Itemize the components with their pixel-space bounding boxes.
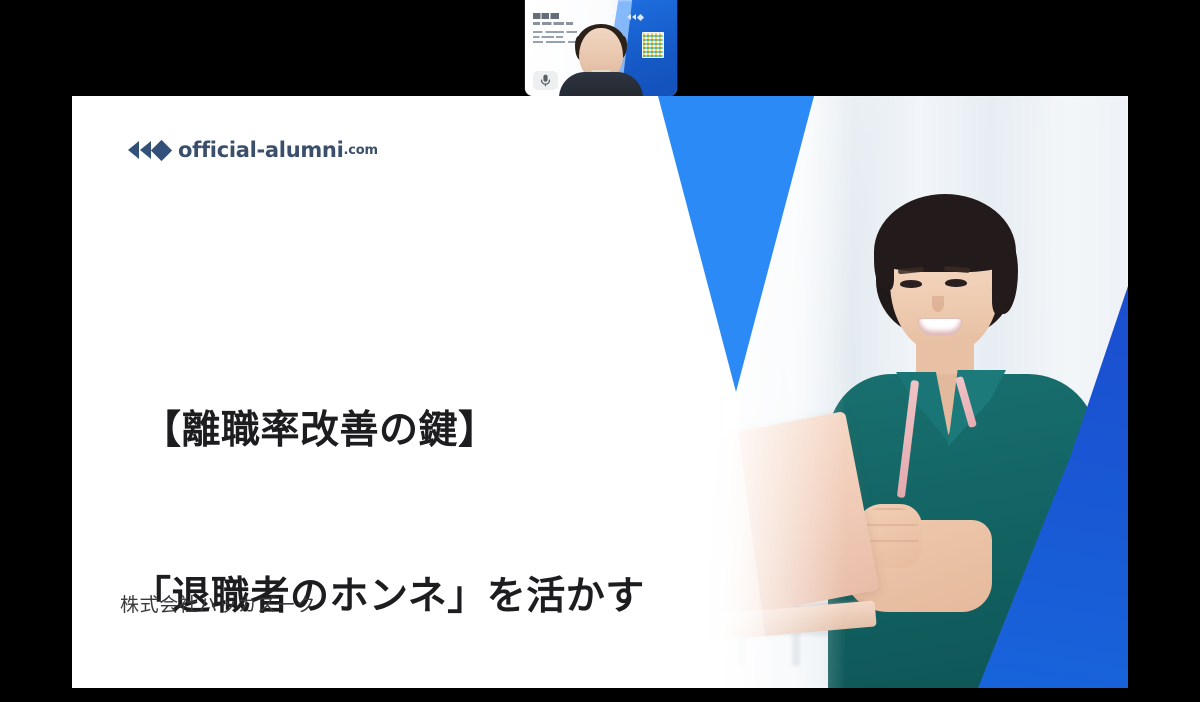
qr-code-icon xyxy=(642,32,664,58)
brand-wordmark: official-alumni xyxy=(178,140,343,161)
slide-title-line-1: 【離職率改善の鍵】 xyxy=(120,403,720,458)
double-chevron-diamond-icon xyxy=(128,141,169,159)
screen-share-stage: official-alumni .com 【離職率改善の鍵】 「退職者のホンネ」… xyxy=(0,0,1200,702)
presentation-slide: official-alumni .com 【離職率改善の鍵】 「退職者のホンネ」… xyxy=(72,96,1128,688)
company-name: 株式会社ハッカズーク xyxy=(120,590,316,617)
brand-tld: .com xyxy=(343,144,377,157)
brand-logo: official-alumni .com xyxy=(128,136,378,164)
presenter-video-tile[interactable] xyxy=(525,0,677,96)
slide-title: 【離職率改善の鍵】 「退職者のホンネ」を活かす 組織変革セミナー xyxy=(120,292,720,688)
presenter-figure xyxy=(558,20,644,96)
microphone-icon[interactable] xyxy=(533,71,558,90)
